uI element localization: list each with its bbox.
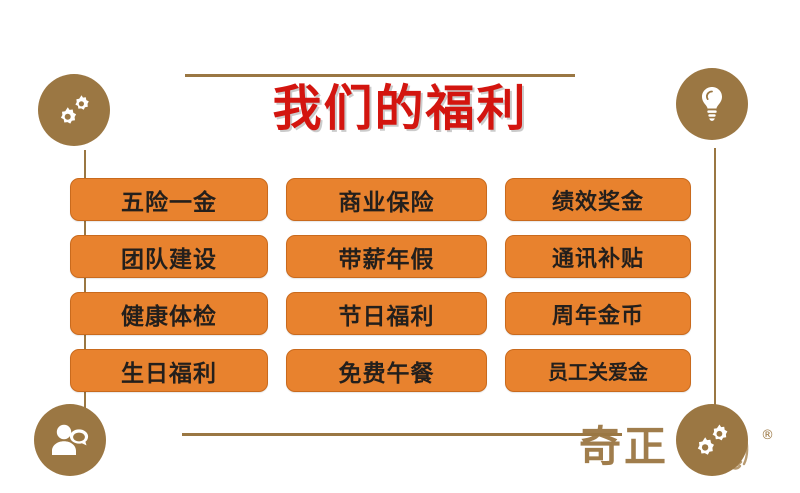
gears-icon [690, 421, 734, 459]
benefit-chip[interactable]: 周年金币 [505, 292, 691, 335]
slide-canvas: 我们的福利 五险一金 商业保险 绩效奖金 团队建设 带薪年假 通讯补贴 健康体检… [0, 0, 800, 493]
benefit-chip[interactable]: 健康体检 [70, 292, 268, 335]
frame-line-top [185, 74, 575, 77]
registered-trademark-icon: ® [761, 428, 774, 443]
person-speech-icon [48, 421, 92, 459]
frame-line-bottom [182, 433, 622, 436]
benefit-chip[interactable]: 五险一金 [70, 178, 268, 221]
benefit-chip[interactable]: 节日福利 [286, 292, 487, 335]
benefit-chip[interactable]: 通讯补贴 [505, 235, 691, 278]
benefit-chip[interactable]: 生日福利 [70, 349, 268, 392]
corner-badge-bottom-right [676, 404, 748, 476]
benefit-chip[interactable]: 带薪年假 [286, 235, 487, 278]
benefit-chip[interactable]: 绩效奖金 [505, 178, 691, 221]
benefit-chip[interactable]: 免费午餐 [286, 349, 487, 392]
benefit-chip[interactable]: 团队建设 [70, 235, 268, 278]
corner-badge-bottom-left [34, 404, 106, 476]
benefits-grid: 五险一金 商业保险 绩效奖金 团队建设 带薪年假 通讯补贴 健康体检 节日福利 … [70, 178, 692, 392]
page-title: 我们的福利 [0, 82, 800, 136]
frame-line-right [714, 148, 716, 410]
benefit-chip[interactable]: 员工关爱金 [505, 349, 691, 392]
benefit-chip[interactable]: 商业保险 [286, 178, 487, 221]
